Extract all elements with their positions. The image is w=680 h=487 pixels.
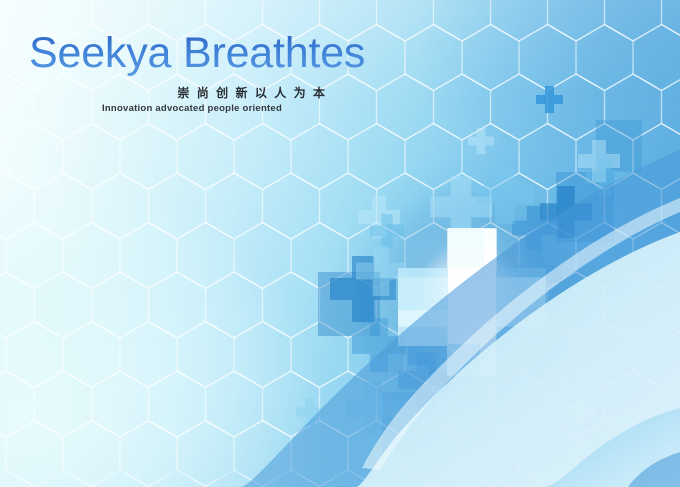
hexagon-cell	[234, 322, 291, 388]
hexagon-cell	[434, 272, 491, 338]
hexagon-cell	[605, 272, 662, 338]
cross-mosaic-tile-6	[448, 344, 480, 376]
hexagon-cell	[348, 322, 405, 388]
square-right-upper	[596, 120, 642, 172]
hexagon-cell	[206, 272, 263, 338]
poster-canvas: Seekya Breathtes 崇 尚 创 新 以 人 为 本 Innovat…	[0, 0, 680, 487]
hexagon-cell	[462, 124, 519, 190]
swoosh-deep-blue	[240, 150, 680, 487]
main-medical-cross	[398, 228, 546, 376]
hexagon-cell	[662, 173, 680, 239]
hexagon-cell	[576, 25, 633, 91]
hexagon-cell	[63, 421, 120, 487]
hexagon-cell	[377, 371, 434, 437]
hexagon-cell	[6, 124, 63, 190]
hexagon-cell	[0, 371, 35, 437]
hexagon-cell	[234, 124, 291, 190]
hexagon-cell	[462, 25, 519, 91]
hexagon-cell	[633, 124, 680, 190]
cross-right-mid	[586, 158, 624, 196]
hexagon-cell	[377, 0, 434, 41]
subtitle-english: Innovation advocated people oriented	[92, 103, 292, 114]
hexagon-cell	[63, 223, 120, 289]
hexagon-cell	[206, 371, 263, 437]
swoosh-corner-accent	[628, 452, 680, 487]
hexagon-cell	[291, 223, 348, 289]
hexagon-cell	[491, 0, 548, 41]
hexagon-cell	[263, 173, 320, 239]
hexagon-cell	[120, 421, 177, 487]
hexagon-cell	[576, 124, 633, 190]
hexagon-cell	[120, 124, 177, 190]
hexagon-cell	[491, 371, 548, 437]
cross-bottom-small	[296, 398, 324, 426]
hexagon-cell	[548, 272, 605, 338]
hexagon-cell	[377, 173, 434, 239]
hexagon-cell	[35, 74, 92, 140]
hexagon-cell	[633, 421, 680, 487]
hexagon-cell	[633, 322, 680, 388]
page-title: Seekya Breathtes	[29, 29, 365, 77]
hexagon-cell	[177, 124, 234, 190]
hexagon-cell	[120, 223, 177, 289]
hexagon-cell	[177, 421, 234, 487]
cross-bottom-edge	[436, 448, 470, 482]
cross-mosaic-tile-4	[496, 268, 546, 308]
hexagon-cell	[320, 272, 377, 338]
hexagon-cell	[633, 223, 680, 289]
hexagon-cell	[662, 272, 680, 338]
hexagon-cell	[462, 322, 519, 388]
hexagon-cell	[377, 272, 434, 338]
hexagon-cell	[0, 124, 6, 190]
hexagon-cell	[462, 223, 519, 289]
hexagon-cell	[633, 25, 680, 91]
hexagon-cell	[149, 272, 206, 338]
hexagon-cell	[0, 421, 6, 487]
cross-hex-upper	[468, 128, 494, 154]
subtitle-chinese: 崇 尚 创 新 以 人 为 本	[152, 84, 352, 101]
hexagon-cell	[234, 421, 291, 487]
hexagon-cell	[149, 371, 206, 437]
hexagon-cell	[291, 322, 348, 388]
hexagon-cell	[548, 173, 605, 239]
hexagon-cell	[92, 173, 149, 239]
hexagon-cell	[0, 223, 6, 289]
hexagon-cell	[519, 124, 576, 190]
cross-inner-bottomleft	[352, 318, 406, 372]
cross-right-pale	[578, 140, 620, 182]
cross-left-mid	[370, 214, 404, 248]
cross-left-deep	[330, 256, 396, 322]
square-lower-block	[382, 392, 438, 452]
hexagon-cell	[0, 25, 6, 91]
hexagon-cell	[491, 173, 548, 239]
hexagon-cell	[291, 421, 348, 487]
hexagon-cell	[405, 421, 462, 487]
hexagon-cell	[177, 322, 234, 388]
cross-mosaic-tile-2	[398, 310, 448, 346]
hexagon-cell	[35, 371, 92, 437]
cross-bottom-right-faint	[566, 394, 596, 424]
cross-hex-left	[358, 196, 400, 238]
hexagon-cell	[206, 173, 263, 239]
hexagon-cell	[63, 124, 120, 190]
hexagon-cell	[491, 74, 548, 140]
cross-mid-left-pale	[356, 246, 406, 296]
hexagon-cell	[348, 223, 405, 289]
hexagon-cell	[605, 371, 662, 437]
hexagon-cell	[605, 0, 662, 41]
cross-mosaic-tile-3	[448, 228, 484, 268]
hexagon-cell	[434, 371, 491, 437]
hexagon-cell	[434, 0, 491, 41]
hexagon-cell	[405, 124, 462, 190]
hexagon-cell	[263, 371, 320, 437]
hexagon-cell	[63, 322, 120, 388]
hexagon-cell	[6, 322, 63, 388]
hexagon-cell	[92, 272, 149, 338]
hexagon-cell	[120, 322, 177, 388]
cross-lower-center	[398, 352, 454, 408]
hexagon-cell	[177, 223, 234, 289]
hexagon-cell	[519, 322, 576, 388]
cross-bottom-large	[346, 382, 400, 436]
swoosh-light-cyan	[356, 232, 680, 487]
hexagon-cell	[548, 0, 605, 41]
cross-mosaic-tile-1	[398, 268, 448, 310]
cross-inner-right	[506, 246, 562, 302]
hexagon-cell	[0, 173, 35, 239]
hexagon-cell	[348, 124, 405, 190]
hexagon-cell	[662, 371, 680, 437]
cross-right-deep-2	[512, 206, 556, 250]
swoosh-thin-highlight	[362, 198, 680, 470]
hexagon-cell	[662, 0, 680, 41]
hexagon-cell	[320, 173, 377, 239]
hexagon-cell	[92, 371, 149, 437]
hexagon-cell	[662, 74, 680, 140]
hexagon-cell	[491, 272, 548, 338]
hexagon-cell	[462, 421, 519, 487]
hexagon-cell	[519, 25, 576, 91]
hexagon-cell	[234, 223, 291, 289]
cross-upper-right-small	[536, 86, 563, 113]
cross-mosaic-tile-5	[496, 308, 546, 344]
hexagon-cell	[434, 74, 491, 140]
hexagon-cell	[0, 322, 6, 388]
cross-inner-top	[430, 176, 492, 238]
hexagon-cell	[576, 223, 633, 289]
hexagon-cell	[605, 74, 662, 140]
hexagon-cell	[0, 272, 35, 338]
cross-inner-bottomright	[498, 296, 558, 356]
hexagon-cell	[35, 272, 92, 338]
hexagon-cell	[348, 421, 405, 487]
hexagon-cell	[405, 223, 462, 289]
hexagon-cell	[0, 74, 35, 140]
hexagon-cell	[519, 223, 576, 289]
cross-right-deep	[540, 186, 592, 238]
hexagon-cell	[6, 223, 63, 289]
hexagon-cell	[548, 74, 605, 140]
square-left-block	[318, 272, 380, 336]
hexagon-cell	[548, 371, 605, 437]
hexagon-cell	[6, 421, 63, 487]
hexagon-cell	[291, 124, 348, 190]
square-right-block	[556, 172, 614, 242]
cross-inner-topright	[476, 166, 534, 224]
hexagon-cell	[434, 173, 491, 239]
swoosh-pale	[544, 408, 680, 487]
hexagon-cell	[405, 25, 462, 91]
hexagon-cell	[263, 272, 320, 338]
hexagon-cell	[576, 322, 633, 388]
hexagon-cell	[320, 371, 377, 437]
hexagon-cell	[519, 421, 576, 487]
hexagon-cell	[377, 74, 434, 140]
hexagon-cell	[149, 173, 206, 239]
hexagon-cell	[35, 173, 92, 239]
cross-inner-bottom	[408, 324, 470, 386]
hexagon-cell	[405, 322, 462, 388]
hexagon-cell	[576, 421, 633, 487]
hexagon-cell	[605, 173, 662, 239]
